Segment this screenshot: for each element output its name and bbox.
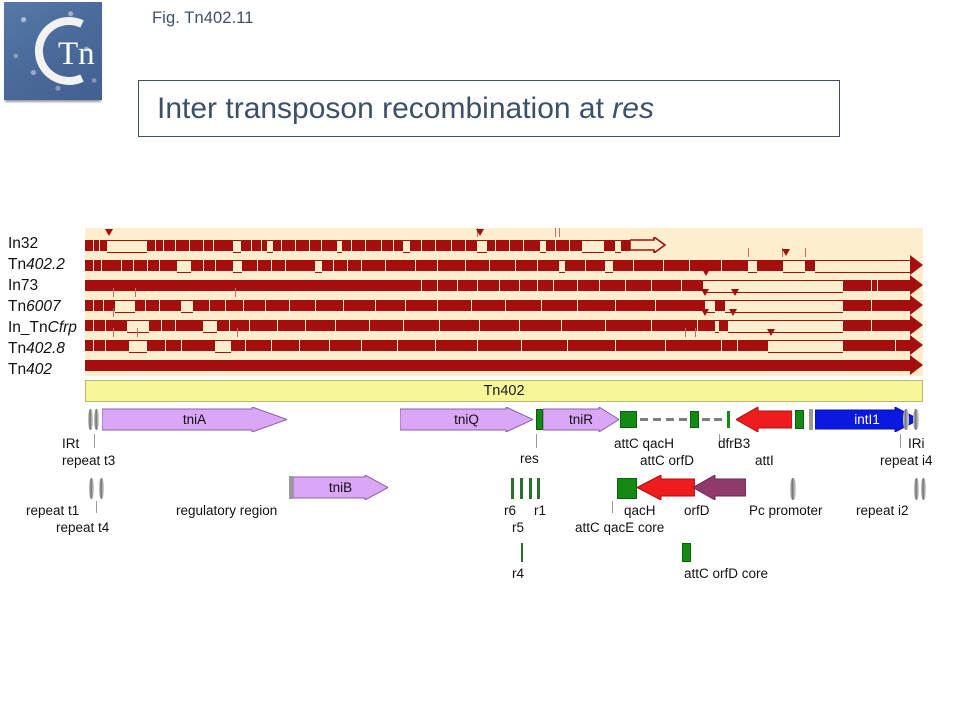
repeat-i2-mark — [914, 478, 919, 500]
cassette-dash — [666, 418, 674, 421]
repeat-t4-mark — [99, 478, 104, 499]
attc-orfd-box — [690, 411, 699, 428]
r5b-bar — [529, 478, 532, 499]
caption-repeat-i2: repeat i2 — [856, 503, 909, 518]
gene-arrow-qach[interactable] — [736, 407, 792, 432]
attc-orfd-core-box — [682, 543, 691, 562]
caption-qach: qacH — [624, 503, 656, 518]
cassette-dash — [653, 418, 661, 421]
caption-irt: IRt — [62, 436, 79, 451]
r6-bar — [511, 478, 514, 499]
pc-promoter-mark — [790, 478, 796, 500]
caption-repeat-i4: repeat i4 — [880, 453, 933, 468]
cassette-dash — [679, 418, 687, 421]
caption-attc-qace-core: attC qacE core — [575, 520, 664, 535]
dfrb3-box — [795, 410, 804, 429]
caption-orfd: orfD — [684, 503, 710, 518]
gene-label: tniR — [543, 407, 639, 432]
gene-label: tniQ — [400, 407, 560, 432]
caption-res: res — [520, 451, 539, 466]
caption-repeat-t1: repeat t1 — [26, 503, 79, 518]
cassette-dash — [702, 418, 710, 421]
r1-bar — [537, 478, 540, 499]
caption-r4: r4 — [512, 566, 524, 581]
cassette-dash — [640, 418, 648, 421]
gene-arrow-qach-2[interactable] — [637, 475, 695, 500]
res-leader — [536, 434, 537, 448]
caption-regulatory-region: regulatory region — [176, 503, 277, 518]
gene-arrow-tnir[interactable]: tniR — [543, 407, 619, 432]
caption-attc-orfd: attC orfD — [640, 453, 694, 468]
cassette-dash — [714, 418, 722, 421]
irt-mark — [94, 409, 99, 430]
gene-label: intI1 — [815, 407, 943, 432]
gene-label: tniA — [102, 407, 322, 432]
gene-arrow-orfd[interactable] — [693, 475, 746, 500]
caption-r5: r5 — [512, 520, 524, 535]
caption-atti: attI — [755, 453, 774, 468]
feature-map: tniA tniQ tniR intI1 — [0, 0, 960, 720]
iri-leader — [900, 434, 901, 448]
caption-attc-orfd-core: attC orfD core — [684, 566, 768, 581]
gene-arrow-inti1[interactable]: intI1 — [815, 407, 919, 432]
irt-leader — [94, 434, 95, 448]
qach-leader — [612, 501, 613, 513]
repeat-t1-mark — [89, 478, 94, 499]
caption-r6: r6 — [504, 503, 516, 518]
r4-bar — [521, 543, 523, 562]
caption-repeat-t4: repeat t4 — [56, 520, 109, 535]
caption-iri: IRi — [908, 436, 925, 451]
gene-arrow-tnia[interactable]: tniA — [102, 407, 287, 432]
caption-repeat-t3: repeat t3 — [62, 453, 115, 468]
caption-attc-qach: attC qacH — [614, 436, 674, 451]
repeat-i2-mark — [921, 478, 926, 500]
atti-mark — [809, 409, 813, 430]
gene-arrow-tniq[interactable]: tniQ — [400, 407, 533, 432]
caption-dfrb3: dfrB3 — [718, 436, 750, 451]
caption-pc-promoter: Pc promoter — [749, 503, 823, 518]
caption-r1: r1 — [534, 503, 546, 518]
repeat-t1-leader — [96, 501, 97, 513]
gene-label: tniB — [293, 475, 411, 500]
attc-core-line — [727, 411, 730, 428]
r5-bar — [520, 478, 523, 499]
gene-arrow-tnib[interactable]: tniB — [293, 475, 388, 500]
attc-qace-core-box — [617, 478, 637, 499]
irt-mark — [88, 409, 93, 430]
